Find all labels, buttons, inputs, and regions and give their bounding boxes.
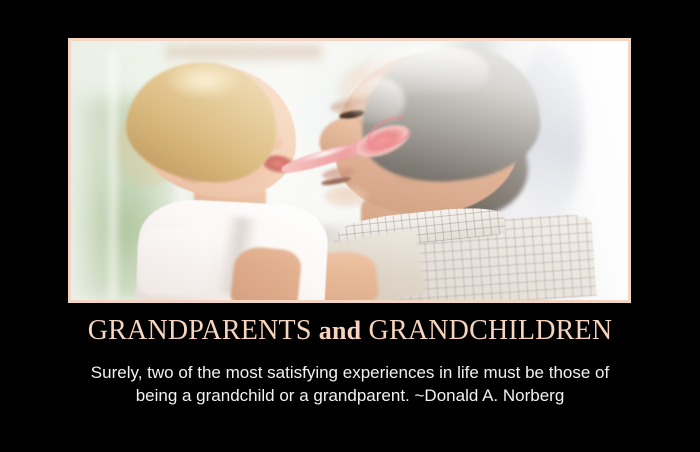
- quote-line-two: being a grandchild or a grandparent. ~Do…: [20, 384, 680, 407]
- photo-frame: [68, 38, 631, 303]
- photo-grandfather-and-grandchild: [71, 41, 628, 300]
- poster-title-part-three: GRANDCHILDREN: [369, 315, 613, 346]
- child-arm: [230, 245, 302, 300]
- poster-quote: Surely, two of the most satisfying exper…: [20, 361, 680, 407]
- poster-title-part-two: and: [319, 316, 362, 345]
- background-wood-beam: [166, 41, 322, 64]
- demotivational-poster: GRANDPARENTS and GRANDCHILDREN Surely, t…: [0, 0, 700, 452]
- poster-title: GRANDPARENTS and GRANDCHILDREN: [0, 314, 700, 348]
- window-frame-bar: [107, 51, 119, 300]
- grandfather-chin: [324, 186, 369, 207]
- poster-title-part-one: GRANDPARENTS: [88, 315, 312, 346]
- quote-line-one: Surely, two of the most satisfying exper…: [20, 361, 680, 384]
- caption-block: GRANDPARENTS and GRANDCHILDREN Surely, t…: [0, 308, 700, 407]
- child-hair-highlight: [160, 64, 249, 105]
- child-shirt-sleeve: [138, 227, 210, 294]
